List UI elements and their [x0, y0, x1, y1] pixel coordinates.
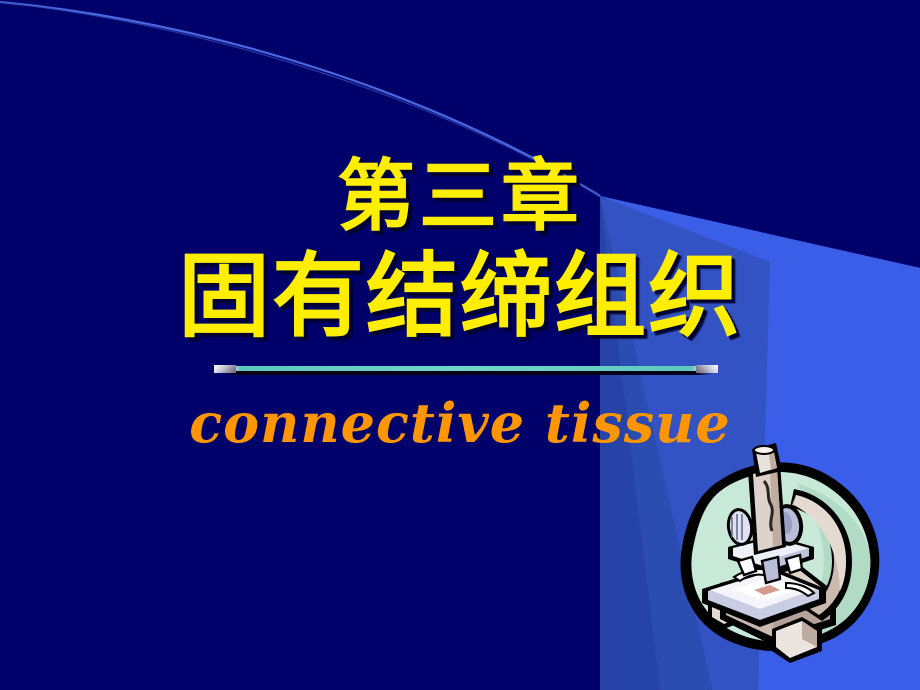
title-divider — [220, 366, 712, 375]
page-subtitle: connective tissue — [0, 396, 920, 450]
presentation-slide: 第三章 固有结缔组织 connective tissue — [0, 0, 920, 690]
divider-cap-left — [214, 365, 236, 373]
divider-shadow — [223, 371, 712, 375]
page-title-line-2: 固有结缔组织 — [0, 250, 920, 342]
microscope-illustration — [676, 443, 886, 668]
microscope-icon — [676, 443, 886, 668]
page-title-line-1: 第三章 — [0, 158, 920, 236]
eyepiece-top — [754, 446, 774, 454]
divider-cap-right — [696, 365, 718, 373]
objective-lens-center — [762, 557, 780, 583]
objective-lens-right — [786, 555, 802, 573]
divider-bar — [220, 366, 712, 371]
